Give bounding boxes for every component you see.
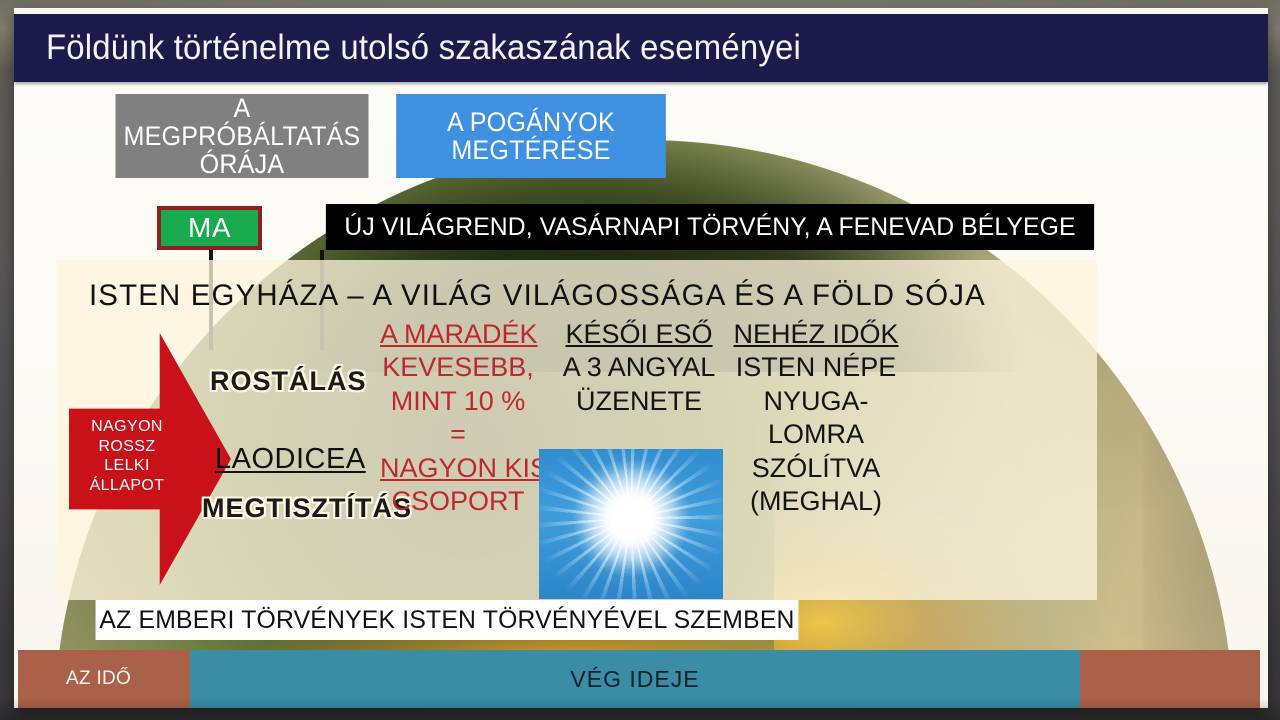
box-trial-hour[interactable]: A MEGPRÓBÁLTATÁS ÓRÁJA [116,94,369,178]
slide-page: Földünk történelme utolsó szakaszának es… [14,8,1268,708]
column-latter-rain-line-3: ÜZENETE [576,386,702,416]
column-remnant-line-1: A MARADÉK [380,318,536,351]
column-hard-times-line-4: LOMRA [768,419,864,449]
black-banner: ÚJ VILÁGREND, VASÁRNAPI TÖRVÉNY, A FENEV… [326,204,1094,250]
column-hard-times-line-1: NEHÉZ IDŐK [732,318,900,351]
column-hard-times-line-2: ISTEN NÉPE [736,352,897,382]
sun-burst-image [539,449,723,599]
footer-time-segment[interactable]: AZ IDŐ [18,650,190,708]
column-remnant-line-6: CSOPORT [391,486,524,516]
column-hard-times-line-5: SZÓLÍTVA [752,453,881,483]
column-hard-times-line-6: (MEGHAL) [750,486,882,516]
word-laodicea: LAODICEA [215,443,366,476]
column-remnant-line-3: MINT 10 % [391,386,526,416]
human-laws-strip: AZ EMBERI TÖRVÉNYEK ISTEN TÖRVÉNYÉVEL SZ… [96,600,799,640]
column-latter-rain-line-1: KÉSŐI ESŐ [554,318,724,351]
column-remnant-line-2: KEVESEBB, [382,352,534,382]
timeline-footer: AZ IDŐ VÉG IDEJE [18,650,1260,708]
slide-stage: Földünk történelme utolsó szakaszának es… [0,0,1280,720]
footer-trailing-segment [1080,650,1260,708]
column-hard-times: NEHÉZ IDŐK ISTEN NÉPE NYUGA- LOMRA SZÓLÍ… [732,318,900,519]
arrow-label-line-3: LELKI [75,456,179,476]
word-rostalas: ROSTÁLÁS [210,366,367,397]
box-pagans-line1: A POGÁNYOK [447,108,615,136]
column-latter-rain-line-2: A 3 ANGYAL [563,352,716,382]
column-remnant-line-5: NAGYON KIS [380,452,536,485]
today-marker-label: MA [188,212,231,244]
arrow-label: NAGYON ROSSZ LELKI ÁLLAPOT [75,417,179,495]
title-bar: Földünk történelme utolsó szakaszának es… [14,14,1268,82]
footer-endtime-segment[interactable]: VÉG IDEJE [190,650,1080,708]
footer-time-label: AZ IDŐ [66,668,131,690]
column-remnant: A MARADÉK KEVESEBB, MINT 10 % = NAGYON K… [380,318,536,519]
human-laws-text: AZ EMBERI TÖRVÉNYEK ISTEN TÖRVÉNYÉVEL SZ… [99,606,794,635]
black-banner-text: ÚJ VILÁGREND, VASÁRNAPI TÖRVÉNY, A FENEV… [344,213,1075,242]
box-pagans-conversion[interactable]: A POGÁNYOK MEGTÉRÉSE [396,94,666,178]
panel-heading: ISTEN EGYHÁZA – A VILÁG VILÁGOSSÁGA ÉS A… [71,274,1080,318]
sun-core-icon [571,458,691,578]
arrow-label-line-4: ÁLLAPOT [75,476,179,496]
footer-endtime-label: VÉG IDEJE [570,666,699,693]
arrow-label-line-1: NAGYON [75,417,179,437]
box-trial-hour-line1: A MEGPRÓBÁLTATÁS [116,94,369,150]
column-hard-times-line-3: NYUGA- [763,386,868,416]
column-latter-rain: KÉSŐI ESŐ A 3 ANGYAL ÜZENETE [554,318,724,418]
today-marker-box[interactable]: MA [157,206,262,250]
box-trial-hour-line2: ÓRÁJA [200,150,285,178]
spiritual-state-arrow: NAGYON ROSSZ LELKI ÁLLAPOT [69,333,231,585]
page-title: Földünk történelme utolsó szakaszának es… [46,28,801,68]
box-pagans-line2: MEGTÉRÉSE [451,136,610,164]
arrow-label-line-2: ROSSZ [75,437,179,457]
column-remnant-line-4: = [450,419,466,449]
